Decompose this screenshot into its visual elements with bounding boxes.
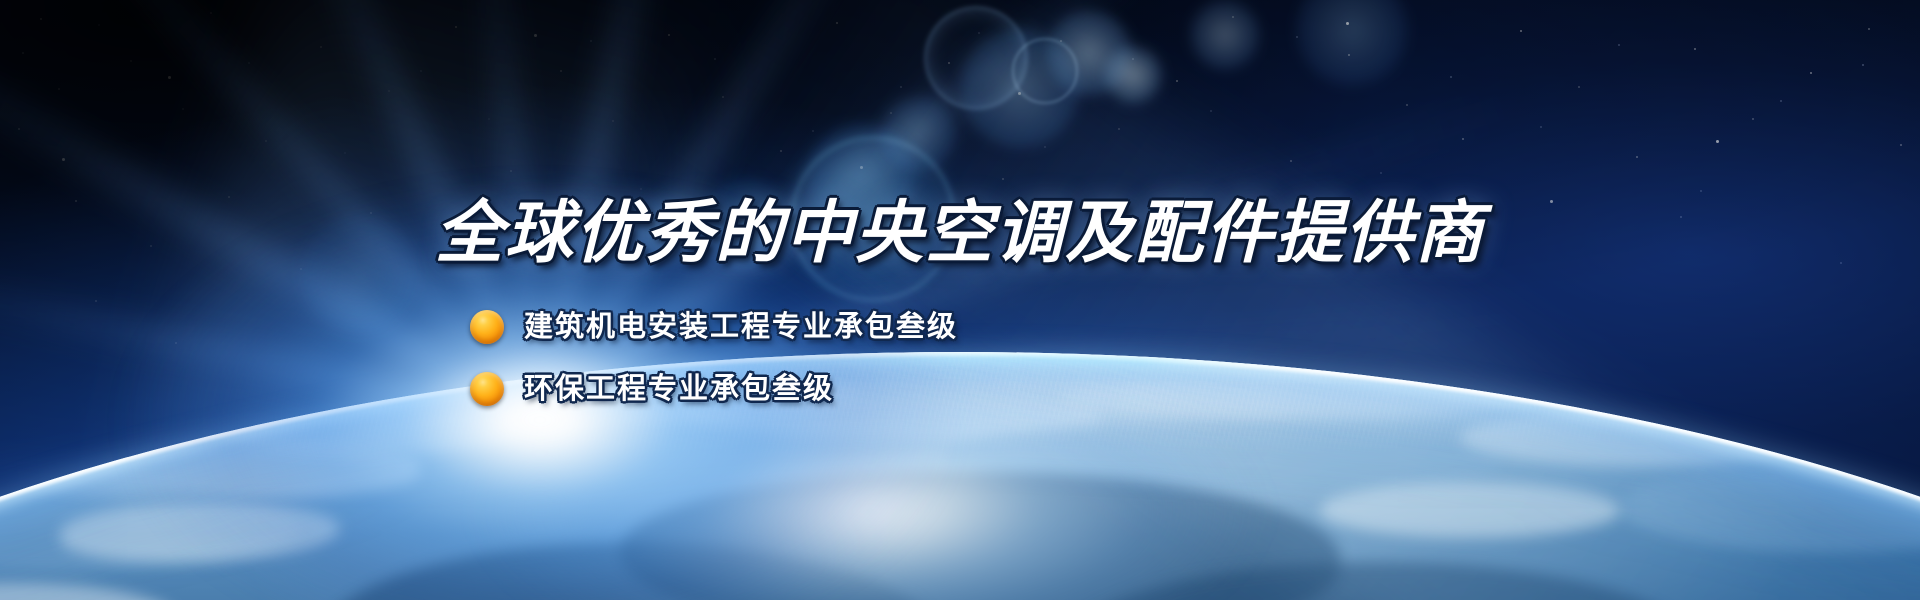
- feature-list: 建筑机电安装工程专业承包叁级 环保工程专业承包叁级: [470, 307, 958, 409]
- hero-banner: 全球优秀的中央空调及配件提供商 建筑机电安装工程专业承包叁级 环保工程专业承包叁…: [0, 0, 1920, 600]
- banner-content: 全球优秀的中央空调及配件提供商 建筑机电安装工程专业承包叁级 环保工程专业承包叁…: [0, 0, 1920, 600]
- list-item-label: 建筑机电安装工程专业承包叁级: [524, 313, 958, 342]
- list-item: 环保工程专业承包叁级: [470, 369, 958, 409]
- list-item-label: 环保工程专业承包叁级: [524, 375, 834, 404]
- bullet-dot-icon: [470, 310, 504, 344]
- bullet-dot-icon: [470, 372, 504, 406]
- list-item: 建筑机电安装工程专业承包叁级: [470, 307, 958, 347]
- page-title: 全球优秀的中央空调及配件提供商: [0, 199, 1920, 267]
